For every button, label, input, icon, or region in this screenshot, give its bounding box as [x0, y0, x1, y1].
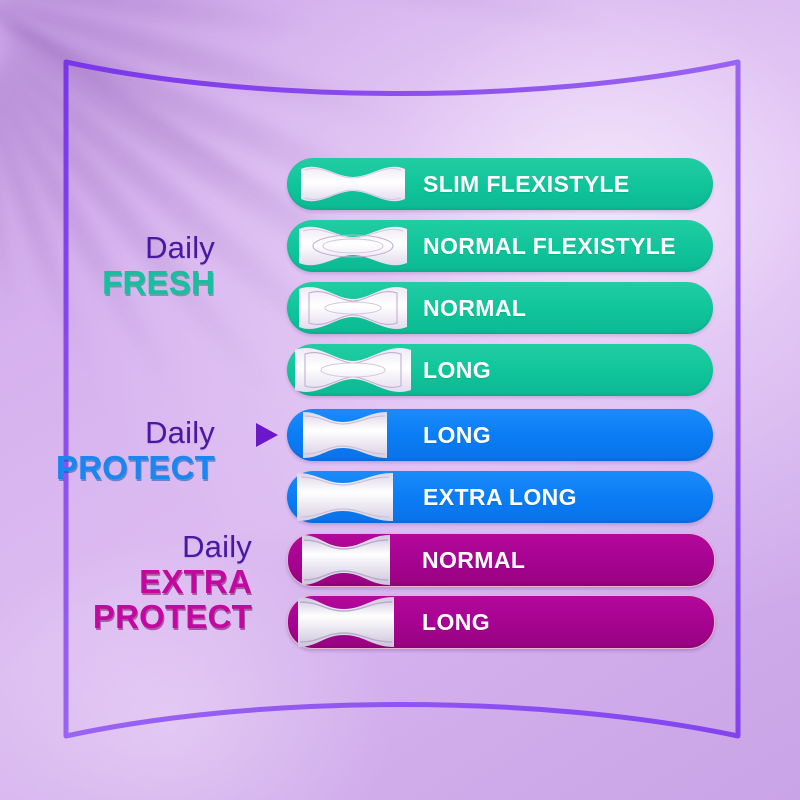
product-label: NORMAL FLEXISTYLE [423, 233, 676, 260]
product-row[interactable]: NORMAL [287, 282, 713, 334]
product-row[interactable]: LONG [287, 409, 713, 461]
product-label: NORMAL [423, 295, 526, 322]
pad-protect-extra-long-icon [291, 468, 415, 526]
pad-slim-icon [291, 155, 415, 213]
pad-protect-long-icon [291, 406, 415, 464]
pad-normal-icon [291, 279, 415, 337]
product-label: LONG [423, 422, 491, 449]
pad-long-icon [291, 341, 415, 399]
product-label: LONG [422, 609, 490, 636]
product-label: NORMAL [422, 547, 525, 574]
product-list: SLIM FLEXISTYLE NORMAL FLEXISTYLE NORMAL [0, 0, 800, 800]
pad-extra-normal-icon [292, 531, 416, 589]
product-label: EXTRA LONG [423, 484, 577, 511]
product-row[interactable]: EXTRA LONG [287, 471, 713, 523]
poster-canvas: Daily FRESH Daily PROTECT Daily EXTRA PR… [0, 0, 800, 800]
pad-extra-long-icon [292, 593, 416, 651]
product-row[interactable]: SLIM FLEXISTYLE [287, 158, 713, 210]
product-row[interactable]: LONG [287, 344, 713, 396]
product-row[interactable]: LONG [287, 595, 715, 649]
product-label: LONG [423, 357, 491, 384]
pad-normal-flexistyle-icon [291, 217, 415, 275]
product-label: SLIM FLEXISTYLE [423, 171, 630, 198]
product-row[interactable]: NORMAL FLEXISTYLE [287, 220, 713, 272]
product-row[interactable]: NORMAL [287, 533, 715, 587]
